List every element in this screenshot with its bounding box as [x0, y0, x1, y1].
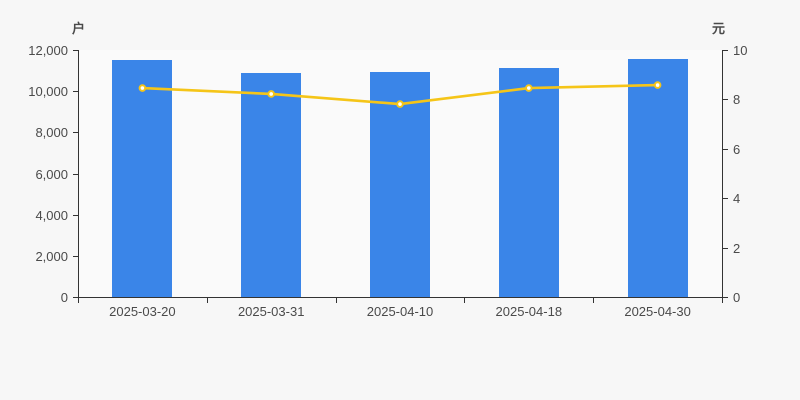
- right-axis-tick-label: 8: [733, 93, 740, 106]
- bar[interactable]: [499, 68, 559, 297]
- right-axis-tick-label: 2: [733, 242, 740, 255]
- x-axis-tick-label: 2025-03-31: [238, 305, 305, 318]
- bar[interactable]: [112, 60, 172, 297]
- right-axis-tick-label: 4: [733, 192, 740, 205]
- x-axis-tick-label: 2025-04-30: [624, 305, 691, 318]
- left-axis-tick-label: 0: [61, 291, 68, 304]
- left-axis-tick-label: 6,000: [35, 168, 68, 181]
- right-axis-tick: [723, 99, 728, 100]
- left-axis-tick: [73, 91, 78, 92]
- x-axis-line: [78, 297, 723, 298]
- left-axis-unit-title: 户: [72, 22, 85, 35]
- left-axis-tick: [73, 174, 78, 175]
- left-axis-tick: [73, 132, 78, 133]
- x-axis-tick: [336, 298, 337, 303]
- x-axis-tick: [593, 298, 594, 303]
- left-axis-line: [78, 50, 79, 298]
- left-axis-tick: [73, 215, 78, 216]
- left-axis-tick-label: 2,000: [35, 250, 68, 263]
- right-axis-tick-label: 0: [733, 291, 740, 304]
- x-axis-tick-label: 2025-04-10: [367, 305, 434, 318]
- right-axis-tick-label: 6: [733, 143, 740, 156]
- right-axis-line: [722, 50, 723, 298]
- x-axis-tick: [464, 298, 465, 303]
- x-axis-tick: [207, 298, 208, 303]
- left-axis-tick-label: 12,000: [28, 44, 68, 57]
- x-axis-tick: [78, 298, 79, 303]
- right-axis-tick: [723, 297, 728, 298]
- right-axis-tick: [723, 198, 728, 199]
- left-axis-tick: [73, 256, 78, 257]
- bar[interactable]: [241, 73, 301, 297]
- right-axis-tick-label: 10: [733, 44, 747, 57]
- left-axis-tick: [73, 50, 78, 51]
- right-axis-tick: [723, 149, 728, 150]
- bar[interactable]: [628, 59, 688, 297]
- x-axis-tick-label: 2025-04-18: [496, 305, 563, 318]
- right-axis-unit-title: 元: [712, 22, 725, 35]
- x-axis-tick: [722, 298, 723, 303]
- left-axis-tick-label: 10,000: [28, 85, 68, 98]
- bar[interactable]: [370, 72, 430, 297]
- x-axis-tick-label: 2025-03-20: [109, 305, 176, 318]
- right-axis-tick: [723, 248, 728, 249]
- chart-container: 户 元 02,0004,0006,0008,00010,00012,000 02…: [0, 0, 800, 400]
- left-axis-tick-label: 8,000: [35, 126, 68, 139]
- left-axis-tick-label: 4,000: [35, 209, 68, 222]
- right-axis-tick: [723, 50, 728, 51]
